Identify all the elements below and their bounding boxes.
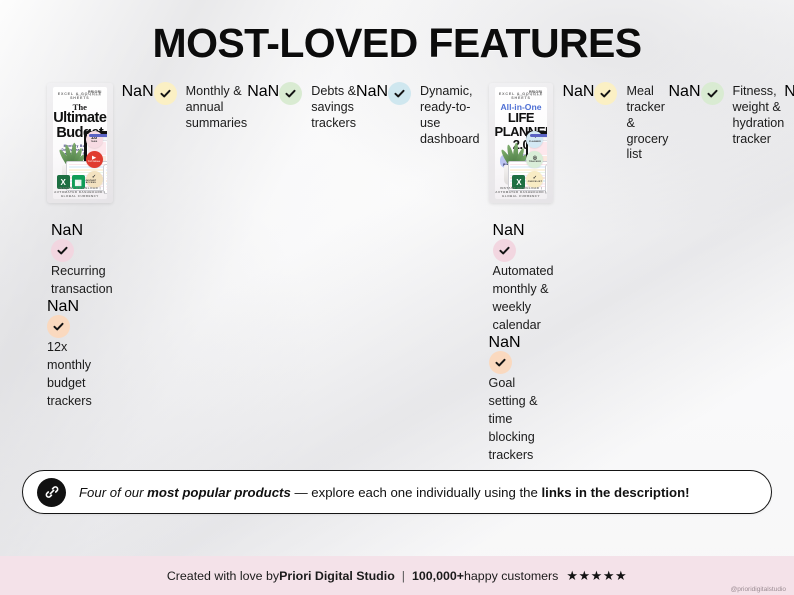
- feature-label: Monthly & annual summaries: [186, 83, 248, 132]
- check-icon: [51, 239, 74, 262]
- callout-text: Four of our most popular products — expl…: [79, 485, 690, 500]
- callout-bold1: most popular products: [147, 485, 291, 500]
- footer-brand: Priori Digital Studio: [279, 569, 395, 583]
- badge-stack: 28TABS▶TUTORIAL✓INSTANT ACCESS: [86, 131, 103, 188]
- feature-list: NaNRecurring transaction: [47, 222, 113, 298]
- product-column-1: PRIORIDIGITAL STUDIOEXCEL & GOOGLE SHEET…: [38, 83, 122, 410]
- callout-part1: Four of our: [79, 485, 147, 500]
- feature-label: Dynamic, ready-to-use dashboard: [420, 83, 480, 147]
- callout-part2: — explore each one individually using th…: [291, 485, 542, 500]
- check-icon: [279, 82, 302, 105]
- check-icon: [493, 239, 516, 262]
- feature-label: Fitness, weight & hydration tracker: [733, 83, 785, 147]
- check-icon: [594, 82, 617, 105]
- footer-count: 100,000+: [412, 569, 464, 583]
- callout-banner[interactable]: Four of our most popular products — expl…: [22, 470, 772, 514]
- check-icon: [154, 82, 177, 105]
- feature-list: NaNAutomated monthly & weekly calendar: [489, 222, 554, 334]
- brand-logo: PRIORIDIGITAL STUDIO: [76, 91, 102, 97]
- check-icon: [47, 315, 70, 338]
- product-badge: ▶TUTORIAL: [86, 151, 103, 168]
- link-icon: [37, 478, 66, 507]
- product-image-card[interactable]: PRIORIDIGITAL STUDIOEXCEL & GOOGLE SHEET…: [47, 83, 113, 203]
- check-icon: [388, 82, 411, 105]
- footer-suffix: happy customers: [464, 569, 558, 583]
- card-foot-strip: INSTANT DOWNLOAD | AUTOMATED DASHBOARD |…: [495, 186, 548, 198]
- check-icon: [701, 82, 724, 105]
- footer-prefix: Created with love by: [167, 569, 279, 583]
- card-foot-strip: INSTANT DOWNLOAD | AUTOMATED DASHBOARD |…: [53, 186, 107, 198]
- feature-label: Recurring transaction: [51, 263, 113, 296]
- feature-label: Goal setting & time blocking trackers: [489, 375, 538, 462]
- product-badge: ◎TRACKER: [526, 151, 543, 168]
- product-image-card[interactable]: PRIORIDIGITAL STUDIOEXCEL & GOOGLE SHEET…: [489, 83, 554, 203]
- footer-text: Created with love by Priori Digital Stud…: [167, 568, 627, 584]
- page-title: MOST-LOVED FEATURES: [0, 0, 794, 67]
- feature-label: 12x monthly budget trackers: [47, 339, 92, 408]
- brand-logo: PRIORIDIGITAL STUDIO: [517, 91, 543, 97]
- feature-label: Automated monthly & weekly calendar: [493, 263, 554, 332]
- footer-bar: Created with love by Priori Digital Stud…: [0, 556, 794, 595]
- star-rating-icon: ★★★★★: [566, 568, 627, 584]
- product-columns: PRIORIDIGITAL STUDIOEXCEL & GOOGLE SHEET…: [0, 83, 794, 464]
- check-icon: [489, 351, 512, 374]
- footer-separator: |: [402, 569, 405, 583]
- callout-bold2: links in the description!: [542, 485, 690, 500]
- feature-label: Debts & savings trackers: [311, 83, 356, 132]
- product-column-2: PRIORIDIGITAL STUDIOEXCEL & GOOGLE SHEET…: [480, 83, 563, 464]
- feature-label: Meal tracker & grocery list: [626, 83, 668, 163]
- badge-stack: ◔PLANNER◎TRACKER✓CHECKLIST: [526, 131, 543, 188]
- social-handle: @prioridigitalstudio: [731, 586, 786, 593]
- infographic-page: MOST-LOVED FEATURES PRIORIDIGITAL STUDIO…: [0, 0, 794, 595]
